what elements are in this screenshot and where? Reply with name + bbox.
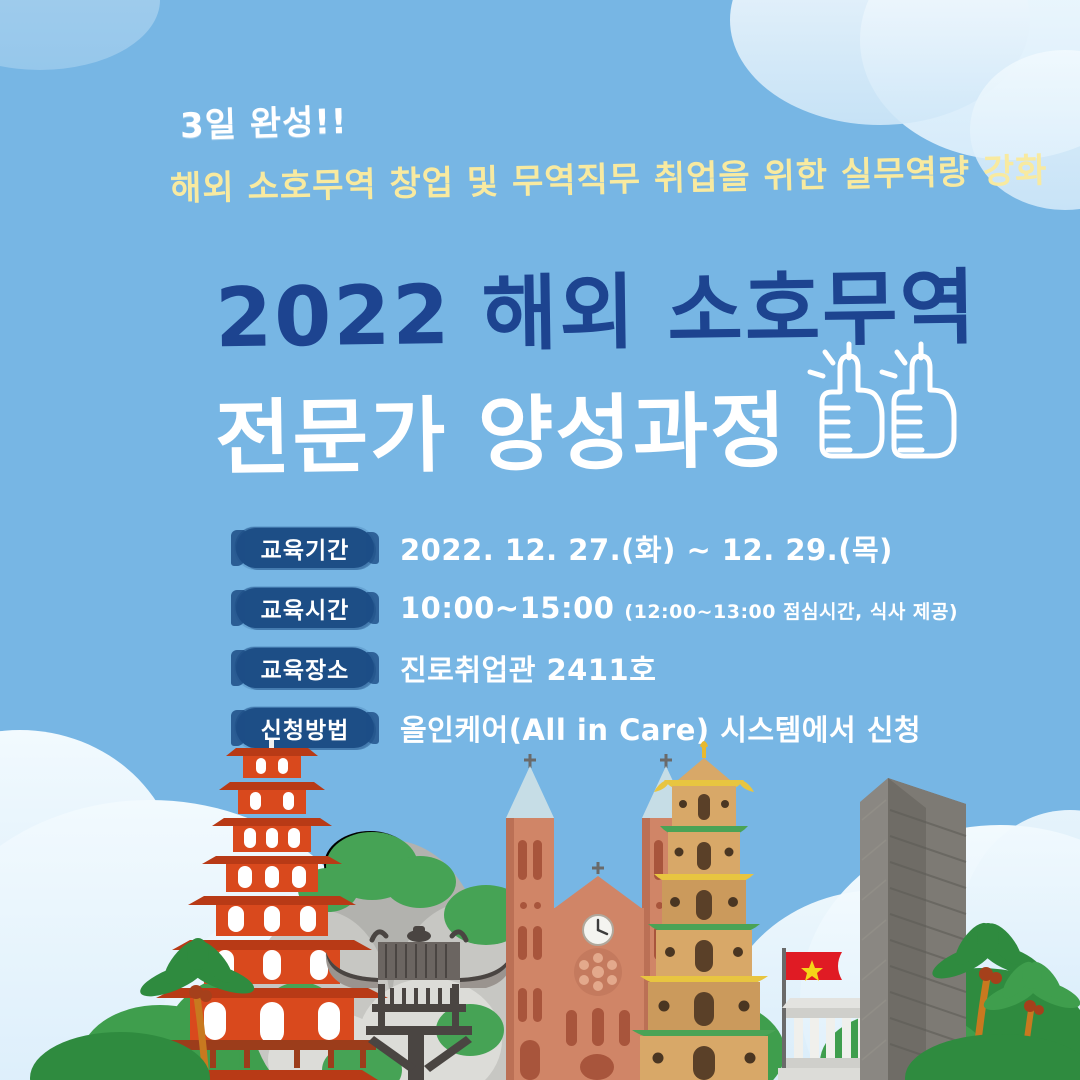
info-value: 2022. 12. 27.(화) ~ 12. 29.(목) (400, 527, 893, 569)
thumbs-up-icon-group (778, 336, 958, 486)
info-value-note: (12:00~13:00 점심시간, 식사 제공) (624, 601, 958, 623)
info-row-time: 교육시간 10:00~15:00(12:00~13:00 점심시간, 식사 제공… (236, 580, 1036, 636)
badge-label: 교육시간 (261, 591, 350, 625)
info-list: 교육기간 2022. 12. 27.(화) ~ 12. 29.(목) 교육시간 … (236, 520, 1036, 760)
status-badge: 교육시간 (236, 588, 374, 628)
info-value-main: 2022. 12. 27.(화) ~ 12. 29.(목) (400, 533, 893, 567)
status-badge: 교육장소 (236, 648, 374, 688)
info-row-place: 교육장소 진로취업관 2411호 (236, 640, 1036, 696)
thumbs-up-icon (882, 344, 954, 456)
kicker-text: 3일 완성!! (179, 94, 348, 148)
info-row-period: 교육기간 2022. 12. 27.(화) ~ 12. 29.(목) (236, 520, 1036, 576)
info-value: 진로취업관 2411호 (400, 647, 656, 689)
page-title-line-2: 전문가 양성과정 (214, 364, 788, 491)
badge-label: 교육기간 (261, 531, 350, 565)
info-value-main: 진로취업관 2411호 (400, 653, 656, 687)
modern-skyscraper (860, 778, 966, 1080)
thumbs-up-icon (810, 344, 882, 456)
info-value-main: 10:00~15:00 (400, 591, 614, 625)
info-value: 10:00~15:00(12:00~13:00 점심시간, 식사 제공) (400, 591, 958, 625)
vietnam-skyline-illustration (0, 740, 1080, 1080)
badge-label: 교육장소 (261, 651, 350, 685)
poster-canvas: 3일 완성!! 해외 소호무역 창업 및 무역직무 취업을 위한 실무역량 강화… (0, 0, 1080, 1080)
status-badge: 교육기간 (236, 528, 374, 568)
badge-label: 신청방법 (261, 711, 350, 745)
